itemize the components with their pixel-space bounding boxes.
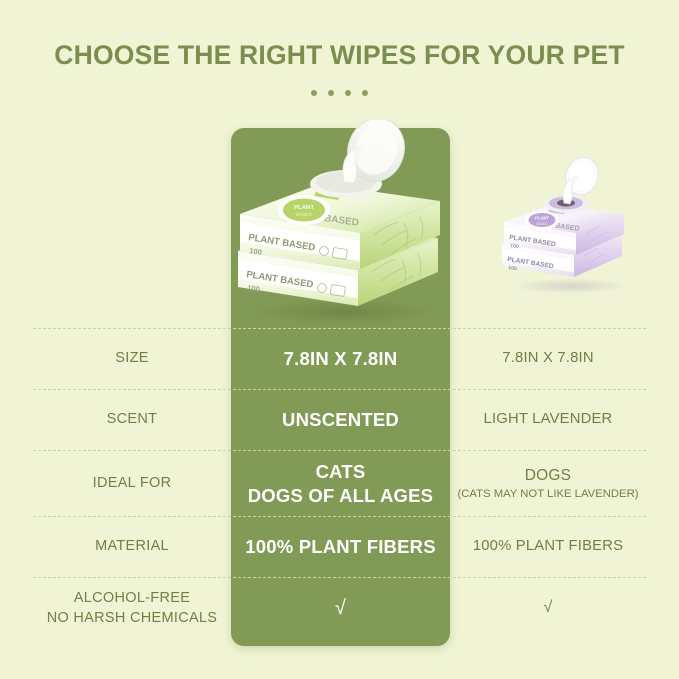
- row-label-ideal-for: IDEAL FOR: [33, 451, 231, 516]
- svg-text:PLANT: PLANT: [535, 216, 549, 221]
- featured-value-ideal-for: CATS DOGS OF ALL AGES: [231, 451, 450, 516]
- alternate-checkmark-icon: √: [450, 578, 646, 639]
- featured-ideal-line-2: DOGS OF ALL AGES: [248, 485, 433, 506]
- svg-text:BASED: BASED: [296, 212, 312, 217]
- featured-checkmark-icon: √: [231, 578, 450, 639]
- row-label-material: MATERIAL: [33, 517, 231, 577]
- alcohol-label-line-1: ALCOHOL-FREE: [74, 590, 190, 606]
- alternate-value-size: 7.8IN X 7.8IN: [450, 329, 646, 389]
- featured-value-material: 100% PLANT FIBERS: [231, 517, 450, 577]
- featured-product-image: PLANT BASED 100: [226, 120, 456, 325]
- alcohol-label-line-2: NO HARSH CHEMICALS: [47, 610, 218, 626]
- product-images-area: PLANT BASED 100: [0, 118, 679, 328]
- row-label-scent: SCENT: [33, 390, 231, 450]
- divider-dot: [345, 90, 351, 96]
- svg-text:PLANT: PLANT: [294, 205, 314, 211]
- table-row: SIZE 7.8IN X 7.8IN 7.8IN X 7.8IN: [33, 328, 646, 389]
- table-row: MATERIAL 100% PLANT FIBERS 100% PLANT FI…: [33, 516, 646, 577]
- divider-dot: [311, 90, 317, 96]
- divider-dot: [328, 90, 334, 96]
- table-row: SCENT UNSCENTED LIGHT LAVENDER: [33, 389, 646, 450]
- alternate-product-image: PLANT BASED 100 PLANT BASED PLANT BASED …: [494, 156, 644, 296]
- table-row: ALCOHOL-FREE NO HARSH CHEMICALS √ √: [33, 577, 646, 639]
- divider-dot: [362, 90, 368, 96]
- svg-text:100: 100: [247, 283, 261, 294]
- alternate-value-material: 100% PLANT FIBERS: [450, 517, 646, 577]
- title-dot-divider: [0, 90, 679, 96]
- table-row: IDEAL FOR CATS DOGS OF ALL AGES DOGS (CA…: [33, 450, 646, 516]
- svg-text:BASED: BASED: [536, 222, 548, 226]
- alternate-value-ideal-for: DOGS (CATS MAY NOT LIKE LAVENDER): [450, 451, 646, 516]
- svg-text:100: 100: [508, 265, 518, 272]
- alternate-ideal-main: DOGS: [458, 466, 639, 486]
- comparison-table: SIZE 7.8IN X 7.8IN 7.8IN X 7.8IN SCENT U…: [0, 328, 679, 639]
- featured-value-scent: UNSCENTED: [231, 390, 450, 450]
- row-label-alcohol-free: ALCOHOL-FREE NO HARSH CHEMICALS: [33, 578, 231, 639]
- featured-value-size: 7.8IN X 7.8IN: [231, 329, 450, 389]
- featured-ideal-line-1: CATS: [316, 461, 366, 482]
- alternate-value-scent: LIGHT LAVENDER: [450, 390, 646, 450]
- alternate-ideal-note: (CATS MAY NOT LIKE LAVENDER): [458, 487, 639, 502]
- infographic-root: CHOOSE THE RIGHT WIPES FOR YOUR PET: [0, 0, 679, 679]
- row-label-size: SIZE: [33, 329, 231, 389]
- page-title: CHOOSE THE RIGHT WIPES FOR YOUR PET: [0, 40, 679, 71]
